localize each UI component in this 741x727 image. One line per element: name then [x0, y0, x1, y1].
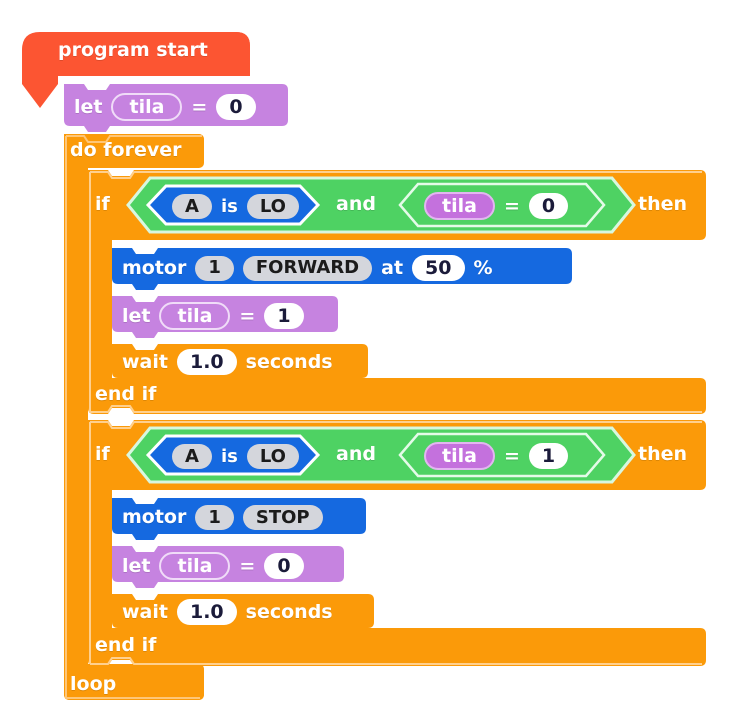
let2-operator: = — [239, 557, 255, 576]
if1-then-label: then — [638, 195, 687, 214]
if2-state-chip[interactable]: LO — [247, 444, 299, 469]
if2-left-spine — [88, 482, 112, 634]
if1-end-shape[interactable] — [88, 378, 706, 414]
if1-is-keyword: is — [221, 198, 238, 216]
wait2-row[interactable]: wait 1.0 seconds — [122, 599, 333, 625]
if2-end-row[interactable]: end if — [95, 636, 156, 655]
block-program-canvas: program start let tila = 0 do forever if… — [0, 0, 741, 727]
program-start-label: program start — [58, 41, 208, 60]
let2-variable[interactable]: tila — [159, 552, 230, 580]
if2-then-label: then — [638, 445, 687, 464]
let2-value[interactable]: 0 — [264, 553, 303, 579]
forever-label: do forever — [70, 141, 182, 160]
if1-keyword-row: if — [95, 195, 110, 214]
if2-compare-row[interactable]: tila = 1 — [424, 442, 568, 470]
wait1-unit-label: seconds — [246, 353, 333, 372]
if2-keyword: if — [95, 445, 110, 464]
if2-end-shape[interactable] — [88, 628, 706, 666]
let-init-value[interactable]: 0 — [216, 94, 255, 120]
motor2-port-chip[interactable]: 1 — [195, 505, 234, 530]
if1-compare-variable[interactable]: tila — [424, 192, 495, 220]
if1-compare-value[interactable]: 0 — [529, 193, 568, 219]
if1-then-row: then — [638, 195, 687, 214]
if1-left-spine — [88, 232, 112, 384]
let-keyword: let — [74, 98, 102, 117]
let-init-operator: = — [191, 98, 207, 117]
if2-port-chip[interactable]: A — [172, 444, 212, 469]
if2-keyword-row: if — [95, 445, 110, 464]
motor1-at-keyword: at — [381, 259, 403, 278]
let2-row[interactable]: let tila = 0 — [122, 552, 304, 580]
if2-and-label: and — [336, 445, 376, 464]
if1-compare-row[interactable]: tila = 0 — [424, 192, 568, 220]
loop-label: loop — [70, 675, 116, 694]
motor1-direction-chip[interactable]: FORWARD — [243, 256, 372, 281]
forever-label-row[interactable]: do forever — [70, 141, 182, 160]
if2-compare-variable[interactable]: tila — [424, 442, 495, 470]
if1-end-label: end if — [95, 385, 156, 404]
hat-block-label-row: program start — [58, 41, 208, 60]
let1-row[interactable]: let tila = 1 — [122, 302, 304, 330]
wait2-keyword: wait — [122, 603, 168, 622]
motor2-direction-chip[interactable]: STOP — [243, 505, 323, 530]
if2-sensor-row[interactable]: A is LO — [172, 444, 299, 469]
let1-keyword: let — [122, 307, 150, 326]
if1-compare-operator: = — [504, 197, 520, 216]
let1-value[interactable]: 1 — [264, 303, 303, 329]
if1-sensor-row[interactable]: A is LO — [172, 194, 299, 219]
if1-end-row[interactable]: end if — [95, 385, 156, 404]
wait1-row[interactable]: wait 1.0 seconds — [122, 349, 333, 375]
if2-is-keyword: is — [221, 448, 238, 466]
wait2-unit-label: seconds — [246, 603, 333, 622]
wait2-value[interactable]: 1.0 — [177, 599, 237, 625]
motor1-port-chip[interactable]: 1 — [195, 256, 234, 281]
if1-keyword: if — [95, 195, 110, 214]
if2-and-operator: and — [336, 445, 376, 464]
if2-then-row: then — [638, 445, 687, 464]
if2-compare-operator: = — [504, 447, 520, 466]
motor1-unit-label: % — [474, 259, 493, 278]
let-init-variable[interactable]: tila — [111, 93, 182, 121]
loop-row[interactable]: loop — [70, 675, 116, 694]
motor1-speed-chip[interactable]: 50 — [412, 255, 464, 281]
motor2-keyword: motor — [122, 508, 186, 527]
motor1-keyword: motor — [122, 259, 186, 278]
let1-operator: = — [239, 307, 255, 326]
wait1-keyword: wait — [122, 353, 168, 372]
motor2-row[interactable]: motor 1 STOP — [122, 505, 323, 530]
forever-left-spine — [64, 160, 88, 670]
if1-and-label: and — [336, 195, 376, 214]
wait1-value[interactable]: 1.0 — [177, 349, 237, 375]
if1-state-chip[interactable]: LO — [247, 194, 299, 219]
if2-compare-value[interactable]: 1 — [529, 443, 568, 469]
if1-port-chip[interactable]: A — [172, 194, 212, 219]
let1-variable[interactable]: tila — [159, 302, 230, 330]
let2-keyword: let — [122, 557, 150, 576]
if2-end-label: end if — [95, 636, 156, 655]
if1-and-operator: and — [336, 195, 376, 214]
let-init-row[interactable]: let tila = 0 — [74, 93, 256, 121]
motor1-row[interactable]: motor 1 FORWARD at 50 % — [122, 255, 493, 281]
